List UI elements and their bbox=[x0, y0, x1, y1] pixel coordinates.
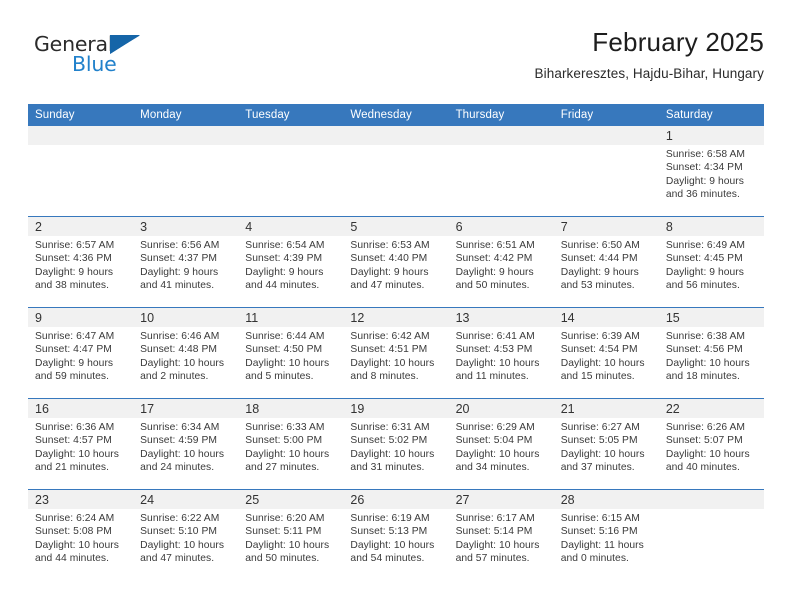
day-number: 20 bbox=[449, 399, 554, 418]
daylight-duration-line1: Daylight: 10 hours bbox=[245, 539, 337, 552]
day-number bbox=[238, 126, 343, 145]
day-number: 6 bbox=[449, 217, 554, 236]
calendar-week-row: 23Sunrise: 6:24 AMSunset: 5:08 PMDayligh… bbox=[28, 490, 764, 581]
day-number: 16 bbox=[28, 399, 133, 418]
sunrise-time: Sunrise: 6:19 AM bbox=[350, 512, 442, 525]
daylight-duration-line1: Daylight: 10 hours bbox=[666, 448, 758, 461]
day-sun-details: Sunrise: 6:56 AMSunset: 4:37 PMDaylight:… bbox=[133, 236, 238, 292]
day-cell-content: 26Sunrise: 6:19 AMSunset: 5:13 PMDayligh… bbox=[343, 490, 448, 580]
day-cell-content: 9Sunrise: 6:47 AMSunset: 4:47 PMDaylight… bbox=[28, 308, 133, 398]
day-sun-details: Sunrise: 6:50 AMSunset: 4:44 PMDaylight:… bbox=[554, 236, 659, 292]
day-number bbox=[659, 490, 764, 509]
day-number bbox=[28, 126, 133, 145]
sunset-time: Sunset: 5:04 PM bbox=[456, 434, 548, 447]
calendar-day-cell[interactable]: 23Sunrise: 6:24 AMSunset: 5:08 PMDayligh… bbox=[28, 490, 133, 581]
daylight-duration-line1: Daylight: 10 hours bbox=[561, 448, 653, 461]
sunrise-time: Sunrise: 6:54 AM bbox=[245, 239, 337, 252]
sunrise-time: Sunrise: 6:26 AM bbox=[666, 421, 758, 434]
day-number: 9 bbox=[28, 308, 133, 327]
day-cell-content: 23Sunrise: 6:24 AMSunset: 5:08 PMDayligh… bbox=[28, 490, 133, 580]
sunrise-time: Sunrise: 6:33 AM bbox=[245, 421, 337, 434]
daylight-duration-line1: Daylight: 10 hours bbox=[35, 448, 127, 461]
day-cell-content bbox=[554, 126, 659, 216]
calendar-page: General Blue February 2025 Biharkereszte… bbox=[0, 0, 792, 612]
sunset-time: Sunset: 4:54 PM bbox=[561, 343, 653, 356]
day-cell-content: 17Sunrise: 6:34 AMSunset: 4:59 PMDayligh… bbox=[133, 399, 238, 489]
day-number: 11 bbox=[238, 308, 343, 327]
daylight-duration-line2: and 41 minutes. bbox=[140, 279, 232, 292]
day-sun-details: Sunrise: 6:44 AMSunset: 4:50 PMDaylight:… bbox=[238, 327, 343, 383]
weekday-header-thursday: Thursday bbox=[449, 104, 554, 126]
sunrise-time: Sunrise: 6:46 AM bbox=[140, 330, 232, 343]
calendar-body: 1Sunrise: 6:58 AMSunset: 4:34 PMDaylight… bbox=[28, 126, 764, 580]
weekday-header-sunday: Sunday bbox=[28, 104, 133, 126]
day-cell-content: 8Sunrise: 6:49 AMSunset: 4:45 PMDaylight… bbox=[659, 217, 764, 307]
sunrise-time: Sunrise: 6:56 AM bbox=[140, 239, 232, 252]
day-cell-content: 6Sunrise: 6:51 AMSunset: 4:42 PMDaylight… bbox=[449, 217, 554, 307]
sunset-time: Sunset: 4:44 PM bbox=[561, 252, 653, 265]
daylight-duration-line2: and 5 minutes. bbox=[245, 370, 337, 383]
calendar-day-cell bbox=[449, 126, 554, 217]
calendar-day-cell[interactable]: 12Sunrise: 6:42 AMSunset: 4:51 PMDayligh… bbox=[343, 308, 448, 399]
calendar-day-cell[interactable]: 25Sunrise: 6:20 AMSunset: 5:11 PMDayligh… bbox=[238, 490, 343, 581]
sunrise-time: Sunrise: 6:44 AM bbox=[245, 330, 337, 343]
day-sun-details: Sunrise: 6:34 AMSunset: 4:59 PMDaylight:… bbox=[133, 418, 238, 474]
sunset-time: Sunset: 4:37 PM bbox=[140, 252, 232, 265]
daylight-duration-line1: Daylight: 10 hours bbox=[140, 357, 232, 370]
daylight-duration-line2: and 44 minutes. bbox=[245, 279, 337, 292]
calendar-table: Sunday Monday Tuesday Wednesday Thursday… bbox=[28, 104, 764, 580]
sunset-time: Sunset: 4:40 PM bbox=[350, 252, 442, 265]
day-sun-details: Sunrise: 6:33 AMSunset: 5:00 PMDaylight:… bbox=[238, 418, 343, 474]
calendar-day-cell[interactable]: 26Sunrise: 6:19 AMSunset: 5:13 PMDayligh… bbox=[343, 490, 448, 581]
sunrise-time: Sunrise: 6:15 AM bbox=[561, 512, 653, 525]
calendar-day-cell[interactable]: 15Sunrise: 6:38 AMSunset: 4:56 PMDayligh… bbox=[659, 308, 764, 399]
daylight-duration-line1: Daylight: 11 hours bbox=[561, 539, 653, 552]
calendar-day-cell[interactable]: 4Sunrise: 6:54 AMSunset: 4:39 PMDaylight… bbox=[238, 217, 343, 308]
day-cell-content bbox=[238, 126, 343, 216]
daylight-duration-line2: and 24 minutes. bbox=[140, 461, 232, 474]
page-subtitle: Biharkeresztes, Hajdu-Bihar, Hungary bbox=[535, 66, 764, 81]
day-cell-content: 1Sunrise: 6:58 AMSunset: 4:34 PMDaylight… bbox=[659, 126, 764, 216]
day-sun-details: Sunrise: 6:58 AMSunset: 4:34 PMDaylight:… bbox=[659, 145, 764, 201]
day-number: 24 bbox=[133, 490, 238, 509]
day-number bbox=[554, 126, 659, 145]
day-number: 26 bbox=[343, 490, 448, 509]
day-sun-details: Sunrise: 6:39 AMSunset: 4:54 PMDaylight:… bbox=[554, 327, 659, 383]
day-cell-content: 2Sunrise: 6:57 AMSunset: 4:36 PMDaylight… bbox=[28, 217, 133, 307]
calendar-day-cell bbox=[133, 126, 238, 217]
daylight-duration-line1: Daylight: 10 hours bbox=[456, 448, 548, 461]
day-sun-details: Sunrise: 6:22 AMSunset: 5:10 PMDaylight:… bbox=[133, 509, 238, 565]
sunrise-time: Sunrise: 6:50 AM bbox=[561, 239, 653, 252]
title-block: February 2025 Biharkeresztes, Hajdu-Biha… bbox=[535, 28, 764, 81]
sunrise-time: Sunrise: 6:58 AM bbox=[666, 148, 758, 161]
sunset-time: Sunset: 4:50 PM bbox=[245, 343, 337, 356]
day-number: 15 bbox=[659, 308, 764, 327]
day-cell-content: 24Sunrise: 6:22 AMSunset: 5:10 PMDayligh… bbox=[133, 490, 238, 580]
daylight-duration-line2: and 21 minutes. bbox=[35, 461, 127, 474]
sunset-time: Sunset: 5:13 PM bbox=[350, 525, 442, 538]
daylight-duration-line2: and 53 minutes. bbox=[561, 279, 653, 292]
calendar-day-cell[interactable]: 27Sunrise: 6:17 AMSunset: 5:14 PMDayligh… bbox=[449, 490, 554, 581]
sunset-time: Sunset: 4:47 PM bbox=[35, 343, 127, 356]
sunrise-time: Sunrise: 6:57 AM bbox=[35, 239, 127, 252]
day-cell-content: 4Sunrise: 6:54 AMSunset: 4:39 PMDaylight… bbox=[238, 217, 343, 307]
brand-logo[interactable]: General Blue bbox=[34, 34, 234, 92]
calendar-week-row: 9Sunrise: 6:47 AMSunset: 4:47 PMDaylight… bbox=[28, 308, 764, 399]
day-number: 22 bbox=[659, 399, 764, 418]
day-sun-details: Sunrise: 6:29 AMSunset: 5:04 PMDaylight:… bbox=[449, 418, 554, 474]
page-header: General Blue February 2025 Biharkereszte… bbox=[28, 28, 764, 100]
calendar-day-cell bbox=[554, 126, 659, 217]
brand-name-blue: Blue bbox=[72, 54, 117, 75]
day-number: 19 bbox=[343, 399, 448, 418]
sunrise-time: Sunrise: 6:51 AM bbox=[456, 239, 548, 252]
day-cell-content: 14Sunrise: 6:39 AMSunset: 4:54 PMDayligh… bbox=[554, 308, 659, 398]
sunset-time: Sunset: 5:05 PM bbox=[561, 434, 653, 447]
calendar-day-cell[interactable]: 14Sunrise: 6:39 AMSunset: 4:54 PMDayligh… bbox=[554, 308, 659, 399]
sunset-time: Sunset: 5:14 PM bbox=[456, 525, 548, 538]
day-number: 4 bbox=[238, 217, 343, 236]
day-number: 3 bbox=[133, 217, 238, 236]
weekday-header-saturday: Saturday bbox=[659, 104, 764, 126]
day-sun-details: Sunrise: 6:31 AMSunset: 5:02 PMDaylight:… bbox=[343, 418, 448, 474]
calendar-day-cell bbox=[343, 126, 448, 217]
day-number bbox=[133, 126, 238, 145]
daylight-duration-line1: Daylight: 9 hours bbox=[456, 266, 548, 279]
day-sun-details: Sunrise: 6:53 AMSunset: 4:40 PMDaylight:… bbox=[343, 236, 448, 292]
sunset-time: Sunset: 4:39 PM bbox=[245, 252, 337, 265]
day-cell-content: 16Sunrise: 6:36 AMSunset: 4:57 PMDayligh… bbox=[28, 399, 133, 489]
sunrise-time: Sunrise: 6:53 AM bbox=[350, 239, 442, 252]
daylight-duration-line1: Daylight: 9 hours bbox=[245, 266, 337, 279]
calendar-day-cell[interactable]: 10Sunrise: 6:46 AMSunset: 4:48 PMDayligh… bbox=[133, 308, 238, 399]
calendar-header-row: Sunday Monday Tuesday Wednesday Thursday… bbox=[28, 104, 764, 126]
day-sun-details: Sunrise: 6:36 AMSunset: 4:57 PMDaylight:… bbox=[28, 418, 133, 474]
page-title: February 2025 bbox=[535, 28, 764, 58]
sunrise-time: Sunrise: 6:39 AM bbox=[561, 330, 653, 343]
calendar-day-cell[interactable]: 11Sunrise: 6:44 AMSunset: 4:50 PMDayligh… bbox=[238, 308, 343, 399]
daylight-duration-line2: and 38 minutes. bbox=[35, 279, 127, 292]
daylight-duration-line2: and 37 minutes. bbox=[561, 461, 653, 474]
sunrise-time: Sunrise: 6:27 AM bbox=[561, 421, 653, 434]
sunrise-time: Sunrise: 6:38 AM bbox=[666, 330, 758, 343]
daylight-duration-line2: and 34 minutes. bbox=[456, 461, 548, 474]
day-cell-content bbox=[133, 126, 238, 216]
calendar-day-cell bbox=[238, 126, 343, 217]
day-cell-content: 21Sunrise: 6:27 AMSunset: 5:05 PMDayligh… bbox=[554, 399, 659, 489]
daylight-duration-line1: Daylight: 10 hours bbox=[140, 539, 232, 552]
sunset-time: Sunset: 4:56 PM bbox=[666, 343, 758, 356]
day-cell-content: 7Sunrise: 6:50 AMSunset: 4:44 PMDaylight… bbox=[554, 217, 659, 307]
sunrise-time: Sunrise: 6:29 AM bbox=[456, 421, 548, 434]
day-sun-details: Sunrise: 6:47 AMSunset: 4:47 PMDaylight:… bbox=[28, 327, 133, 383]
day-sun-details: Sunrise: 6:46 AMSunset: 4:48 PMDaylight:… bbox=[133, 327, 238, 383]
weekday-header-friday: Friday bbox=[554, 104, 659, 126]
day-sun-details: Sunrise: 6:15 AMSunset: 5:16 PMDaylight:… bbox=[554, 509, 659, 565]
sunset-time: Sunset: 4:48 PM bbox=[140, 343, 232, 356]
day-sun-details: Sunrise: 6:17 AMSunset: 5:14 PMDaylight:… bbox=[449, 509, 554, 565]
day-number bbox=[343, 126, 448, 145]
sunset-time: Sunset: 4:42 PM bbox=[456, 252, 548, 265]
day-sun-details: Sunrise: 6:20 AMSunset: 5:11 PMDaylight:… bbox=[238, 509, 343, 565]
day-cell-content: 12Sunrise: 6:42 AMSunset: 4:51 PMDayligh… bbox=[343, 308, 448, 398]
day-number: 12 bbox=[343, 308, 448, 327]
daylight-duration-line2: and 56 minutes. bbox=[666, 279, 758, 292]
daylight-duration-line2: and 50 minutes. bbox=[456, 279, 548, 292]
calendar-week-row: 1Sunrise: 6:58 AMSunset: 4:34 PMDaylight… bbox=[28, 126, 764, 217]
weekday-header-tuesday: Tuesday bbox=[238, 104, 343, 126]
daylight-duration-line1: Daylight: 10 hours bbox=[350, 448, 442, 461]
day-cell-content: 22Sunrise: 6:26 AMSunset: 5:07 PMDayligh… bbox=[659, 399, 764, 489]
calendar-day-cell[interactable]: 22Sunrise: 6:26 AMSunset: 5:07 PMDayligh… bbox=[659, 399, 764, 490]
daylight-duration-line2: and 31 minutes. bbox=[350, 461, 442, 474]
calendar-day-cell[interactable]: 1Sunrise: 6:58 AMSunset: 4:34 PMDaylight… bbox=[659, 126, 764, 217]
daylight-duration-line1: Daylight: 9 hours bbox=[140, 266, 232, 279]
daylight-duration-line1: Daylight: 10 hours bbox=[350, 539, 442, 552]
sunset-time: Sunset: 5:16 PM bbox=[561, 525, 653, 538]
day-number: 10 bbox=[133, 308, 238, 327]
day-sun-details: Sunrise: 6:19 AMSunset: 5:13 PMDaylight:… bbox=[343, 509, 448, 565]
daylight-duration-line2: and 50 minutes. bbox=[245, 552, 337, 565]
sunrise-time: Sunrise: 6:24 AM bbox=[35, 512, 127, 525]
day-sun-details: Sunrise: 6:54 AMSunset: 4:39 PMDaylight:… bbox=[238, 236, 343, 292]
day-number: 21 bbox=[554, 399, 659, 418]
calendar-day-cell[interactable]: 20Sunrise: 6:29 AMSunset: 5:04 PMDayligh… bbox=[449, 399, 554, 490]
sunset-time: Sunset: 5:07 PM bbox=[666, 434, 758, 447]
day-number: 14 bbox=[554, 308, 659, 327]
sunrise-time: Sunrise: 6:20 AM bbox=[245, 512, 337, 525]
day-cell-content: 5Sunrise: 6:53 AMSunset: 4:40 PMDaylight… bbox=[343, 217, 448, 307]
day-number: 2 bbox=[28, 217, 133, 236]
day-number: 1 bbox=[659, 126, 764, 145]
daylight-duration-line1: Daylight: 9 hours bbox=[666, 266, 758, 279]
calendar-week-row: 2Sunrise: 6:57 AMSunset: 4:36 PMDaylight… bbox=[28, 217, 764, 308]
daylight-duration-line2: and 59 minutes. bbox=[35, 370, 127, 383]
day-cell-content: 27Sunrise: 6:17 AMSunset: 5:14 PMDayligh… bbox=[449, 490, 554, 580]
day-cell-content bbox=[343, 126, 448, 216]
calendar-day-cell[interactable]: 7Sunrise: 6:50 AMSunset: 4:44 PMDaylight… bbox=[554, 217, 659, 308]
day-cell-content: 28Sunrise: 6:15 AMSunset: 5:16 PMDayligh… bbox=[554, 490, 659, 580]
day-number: 13 bbox=[449, 308, 554, 327]
sunset-time: Sunset: 4:34 PM bbox=[666, 161, 758, 174]
day-number: 5 bbox=[343, 217, 448, 236]
daylight-duration-line2: and 11 minutes. bbox=[456, 370, 548, 383]
daylight-duration-line1: Daylight: 9 hours bbox=[35, 357, 127, 370]
daylight-duration-line2: and 27 minutes. bbox=[245, 461, 337, 474]
daylight-duration-line2: and 15 minutes. bbox=[561, 370, 653, 383]
day-cell-content bbox=[659, 490, 764, 580]
calendar-day-cell[interactable]: 24Sunrise: 6:22 AMSunset: 5:10 PMDayligh… bbox=[133, 490, 238, 581]
day-sun-details: Sunrise: 6:24 AMSunset: 5:08 PMDaylight:… bbox=[28, 509, 133, 565]
day-number: 27 bbox=[449, 490, 554, 509]
daylight-duration-line2: and 40 minutes. bbox=[666, 461, 758, 474]
day-number: 8 bbox=[659, 217, 764, 236]
weekday-header-wednesday: Wednesday bbox=[343, 104, 448, 126]
day-sun-details: Sunrise: 6:57 AMSunset: 4:36 PMDaylight:… bbox=[28, 236, 133, 292]
day-cell-content: 13Sunrise: 6:41 AMSunset: 4:53 PMDayligh… bbox=[449, 308, 554, 398]
day-number: 17 bbox=[133, 399, 238, 418]
daylight-duration-line2: and 54 minutes. bbox=[350, 552, 442, 565]
daylight-duration-line1: Daylight: 9 hours bbox=[35, 266, 127, 279]
day-sun-details: Sunrise: 6:26 AMSunset: 5:07 PMDaylight:… bbox=[659, 418, 764, 474]
calendar-day-cell[interactable]: 3Sunrise: 6:56 AMSunset: 4:37 PMDaylight… bbox=[133, 217, 238, 308]
calendar-day-cell[interactable]: 9Sunrise: 6:47 AMSunset: 4:47 PMDaylight… bbox=[28, 308, 133, 399]
sunrise-time: Sunrise: 6:22 AM bbox=[140, 512, 232, 525]
calendar-day-cell[interactable]: 17Sunrise: 6:34 AMSunset: 4:59 PMDayligh… bbox=[133, 399, 238, 490]
day-number: 23 bbox=[28, 490, 133, 509]
daylight-duration-line2: and 8 minutes. bbox=[350, 370, 442, 383]
weekday-header-monday: Monday bbox=[133, 104, 238, 126]
daylight-duration-line2: and 57 minutes. bbox=[456, 552, 548, 565]
day-cell-content: 20Sunrise: 6:29 AMSunset: 5:04 PMDayligh… bbox=[449, 399, 554, 489]
day-sun-details: Sunrise: 6:51 AMSunset: 4:42 PMDaylight:… bbox=[449, 236, 554, 292]
day-number: 18 bbox=[238, 399, 343, 418]
day-cell-content: 10Sunrise: 6:46 AMSunset: 4:48 PMDayligh… bbox=[133, 308, 238, 398]
day-cell-content: 3Sunrise: 6:56 AMSunset: 4:37 PMDaylight… bbox=[133, 217, 238, 307]
sunset-time: Sunset: 4:57 PM bbox=[35, 434, 127, 447]
calendar-day-cell[interactable]: 21Sunrise: 6:27 AMSunset: 5:05 PMDayligh… bbox=[554, 399, 659, 490]
sunrise-time: Sunrise: 6:47 AM bbox=[35, 330, 127, 343]
sunset-time: Sunset: 5:00 PM bbox=[245, 434, 337, 447]
daylight-duration-line2: and 2 minutes. bbox=[140, 370, 232, 383]
sunset-time: Sunset: 4:53 PM bbox=[456, 343, 548, 356]
daylight-duration-line2: and 47 minutes. bbox=[350, 279, 442, 292]
daylight-duration-line2: and 18 minutes. bbox=[666, 370, 758, 383]
daylight-duration-line1: Daylight: 9 hours bbox=[350, 266, 442, 279]
sunrise-time: Sunrise: 6:49 AM bbox=[666, 239, 758, 252]
daylight-duration-line1: Daylight: 9 hours bbox=[666, 175, 758, 188]
day-cell-content: 18Sunrise: 6:33 AMSunset: 5:00 PMDayligh… bbox=[238, 399, 343, 489]
sunrise-time: Sunrise: 6:17 AM bbox=[456, 512, 548, 525]
day-number: 28 bbox=[554, 490, 659, 509]
sunset-time: Sunset: 5:11 PM bbox=[245, 525, 337, 538]
daylight-duration-line1: Daylight: 10 hours bbox=[456, 539, 548, 552]
daylight-duration-line1: Daylight: 10 hours bbox=[35, 539, 127, 552]
sunset-time: Sunset: 4:45 PM bbox=[666, 252, 758, 265]
daylight-duration-line2: and 44 minutes. bbox=[35, 552, 127, 565]
sunrise-time: Sunrise: 6:42 AM bbox=[350, 330, 442, 343]
day-number: 25 bbox=[238, 490, 343, 509]
calendar-day-cell[interactable]: 16Sunrise: 6:36 AMSunset: 4:57 PMDayligh… bbox=[28, 399, 133, 490]
daylight-duration-line1: Daylight: 10 hours bbox=[456, 357, 548, 370]
sunset-time: Sunset: 4:59 PM bbox=[140, 434, 232, 447]
daylight-duration-line2: and 36 minutes. bbox=[666, 188, 758, 201]
sunrise-time: Sunrise: 6:36 AM bbox=[35, 421, 127, 434]
day-cell-content bbox=[28, 126, 133, 216]
calendar-day-cell bbox=[659, 490, 764, 581]
daylight-duration-line2: and 0 minutes. bbox=[561, 552, 653, 565]
calendar-day-cell[interactable]: 28Sunrise: 6:15 AMSunset: 5:16 PMDayligh… bbox=[554, 490, 659, 581]
day-cell-content: 25Sunrise: 6:20 AMSunset: 5:11 PMDayligh… bbox=[238, 490, 343, 580]
calendar-day-cell[interactable]: 5Sunrise: 6:53 AMSunset: 4:40 PMDaylight… bbox=[343, 217, 448, 308]
day-sun-details: Sunrise: 6:41 AMSunset: 4:53 PMDaylight:… bbox=[449, 327, 554, 383]
daylight-duration-line1: Daylight: 10 hours bbox=[561, 357, 653, 370]
daylight-duration-line1: Daylight: 10 hours bbox=[245, 357, 337, 370]
day-sun-details: Sunrise: 6:27 AMSunset: 5:05 PMDaylight:… bbox=[554, 418, 659, 474]
calendar-day-cell[interactable]: 2Sunrise: 6:57 AMSunset: 4:36 PMDaylight… bbox=[28, 217, 133, 308]
day-sun-details: Sunrise: 6:38 AMSunset: 4:56 PMDaylight:… bbox=[659, 327, 764, 383]
daylight-duration-line1: Daylight: 10 hours bbox=[140, 448, 232, 461]
calendar-day-cell[interactable]: 19Sunrise: 6:31 AMSunset: 5:02 PMDayligh… bbox=[343, 399, 448, 490]
sunrise-time: Sunrise: 6:34 AM bbox=[140, 421, 232, 434]
calendar-week-row: 16Sunrise: 6:36 AMSunset: 4:57 PMDayligh… bbox=[28, 399, 764, 490]
sunset-time: Sunset: 4:51 PM bbox=[350, 343, 442, 356]
sunset-time: Sunset: 5:10 PM bbox=[140, 525, 232, 538]
daylight-duration-line1: Daylight: 10 hours bbox=[245, 448, 337, 461]
day-sun-details: Sunrise: 6:42 AMSunset: 4:51 PMDaylight:… bbox=[343, 327, 448, 383]
day-number: 7 bbox=[554, 217, 659, 236]
day-cell-content bbox=[449, 126, 554, 216]
daylight-duration-line2: and 47 minutes. bbox=[140, 552, 232, 565]
sunrise-time: Sunrise: 6:31 AM bbox=[350, 421, 442, 434]
sunset-time: Sunset: 5:02 PM bbox=[350, 434, 442, 447]
calendar-day-cell bbox=[28, 126, 133, 217]
sunset-time: Sunset: 4:36 PM bbox=[35, 252, 127, 265]
calendar-day-cell[interactable]: 8Sunrise: 6:49 AMSunset: 4:45 PMDaylight… bbox=[659, 217, 764, 308]
calendar-day-cell[interactable]: 18Sunrise: 6:33 AMSunset: 5:00 PMDayligh… bbox=[238, 399, 343, 490]
calendar-day-cell[interactable]: 13Sunrise: 6:41 AMSunset: 4:53 PMDayligh… bbox=[449, 308, 554, 399]
day-number bbox=[449, 126, 554, 145]
day-cell-content: 11Sunrise: 6:44 AMSunset: 4:50 PMDayligh… bbox=[238, 308, 343, 398]
daylight-duration-line1: Daylight: 10 hours bbox=[666, 357, 758, 370]
day-sun-details: Sunrise: 6:49 AMSunset: 4:45 PMDaylight:… bbox=[659, 236, 764, 292]
calendar-day-cell[interactable]: 6Sunrise: 6:51 AMSunset: 4:42 PMDaylight… bbox=[449, 217, 554, 308]
day-cell-content: 19Sunrise: 6:31 AMSunset: 5:02 PMDayligh… bbox=[343, 399, 448, 489]
daylight-duration-line1: Daylight: 10 hours bbox=[350, 357, 442, 370]
daylight-duration-line1: Daylight: 9 hours bbox=[561, 266, 653, 279]
sunset-time: Sunset: 5:08 PM bbox=[35, 525, 127, 538]
sunrise-time: Sunrise: 6:41 AM bbox=[456, 330, 548, 343]
day-cell-content: 15Sunrise: 6:38 AMSunset: 4:56 PMDayligh… bbox=[659, 308, 764, 398]
